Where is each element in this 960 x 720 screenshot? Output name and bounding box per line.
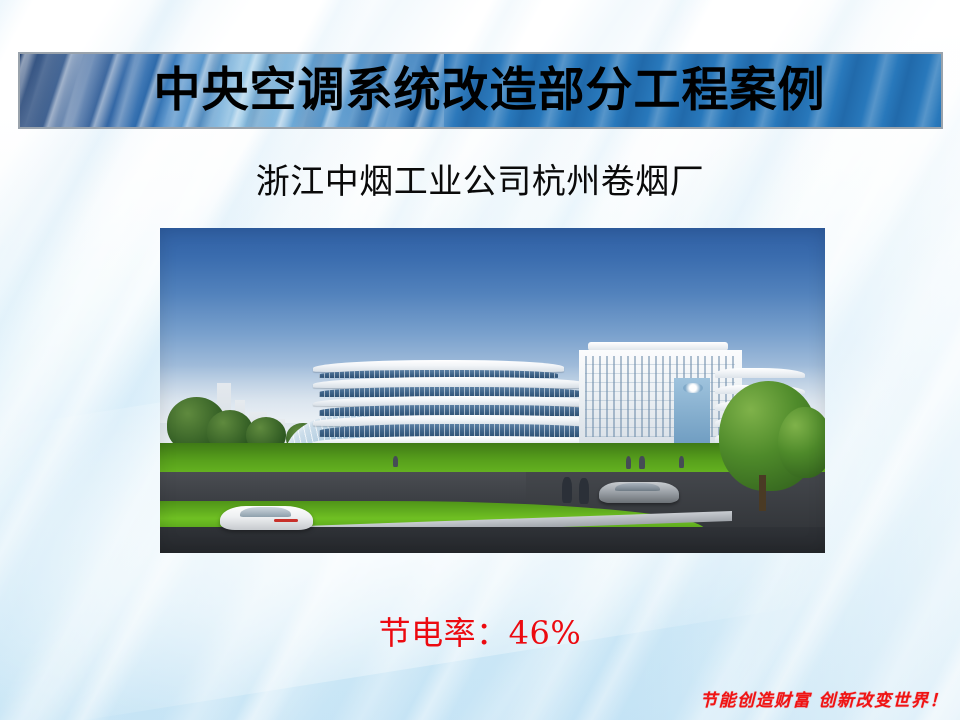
slide-subtitle: 浙江中烟工业公司杭州卷烟厂 [0, 163, 960, 202]
photo-pedestrian [626, 456, 632, 470]
photo-pedestrian [679, 456, 684, 468]
wing-deck [715, 368, 805, 378]
photo-tree-trunk [759, 475, 767, 511]
photo-road-near [160, 527, 825, 553]
photo-car-white [220, 506, 313, 530]
photo-pedestrian [393, 456, 398, 468]
photo-tree-right [778, 407, 825, 479]
photo-person [562, 477, 572, 503]
title-banner: 中央空调系统改造部分工程案例 [18, 52, 943, 129]
slide-title: 中央空调系统改造部分工程案例 [20, 54, 941, 127]
building-rendering-image [160, 228, 825, 553]
footer-slogan: 节能创造财富 创新改变世界！ [700, 686, 948, 711]
energy-saving-rate: 节电率：46% [0, 608, 960, 654]
presentation-slide: 中央空调系统改造部分工程案例 浙江中烟工业公司杭州卷烟厂 [0, 0, 960, 720]
photo-pedestrian [639, 456, 645, 469]
photo-person [579, 478, 589, 504]
photo-car-silver [599, 482, 679, 503]
